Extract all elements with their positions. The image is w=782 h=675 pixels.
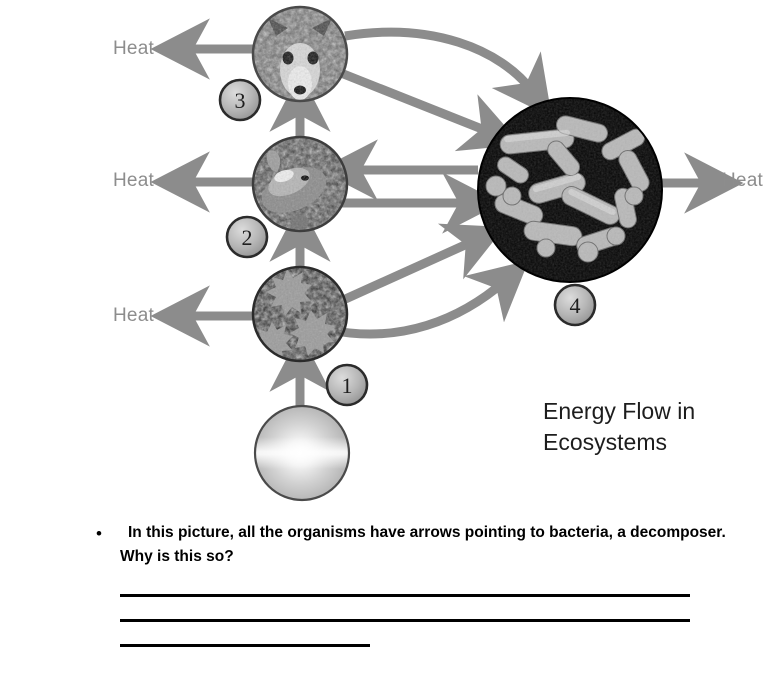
heat-label-rabbit: Heat [113,170,154,192]
node-bacteria [478,98,662,282]
arrow-plant-to-bacteria-curve [330,281,505,334]
heat-label-bacteria: Heat [722,170,763,192]
badge-3: 3 [220,80,260,120]
badge-3-number: 3 [235,88,246,113]
badge-4-number: 4 [570,293,581,318]
arrow-plant-to-bacteria-diagonal [341,240,476,301]
question-bullet-row: • In this picture, all the organisms hav… [96,521,736,569]
node-wolf [253,7,347,101]
answer-lines [120,594,690,669]
badge-2: 2 [227,217,267,257]
energy-flow-diagram: 1 2 3 4 Heat Heat Heat Heat Energy Flow … [0,0,782,510]
diagram-title: Energy Flow in Ecosystems [543,396,773,458]
arrow-wolf-to-bacteria-diagonal [341,73,492,133]
diagram-title-line2: Ecosystems [543,427,773,458]
node-sun [255,406,349,500]
question-text: In this picture, all the organisms have … [110,521,736,569]
node-rabbit [253,137,347,231]
diagram-title-line1: Energy Flow in [543,396,773,427]
badge-2-number: 2 [242,225,253,250]
answer-line-1[interactable] [120,594,690,597]
node-plant [253,267,347,362]
badge-4: 4 [555,285,595,325]
badge-1-number: 1 [342,373,353,398]
bullet-icon: • [96,521,110,546]
badge-1: 1 [327,365,367,405]
heat-label-wolf: Heat [113,38,154,60]
answer-line-2[interactable] [120,619,690,622]
answer-line-3[interactable] [120,644,370,647]
heat-label-plant: Heat [113,305,154,327]
question-block: • In this picture, all the organisms hav… [96,521,736,569]
